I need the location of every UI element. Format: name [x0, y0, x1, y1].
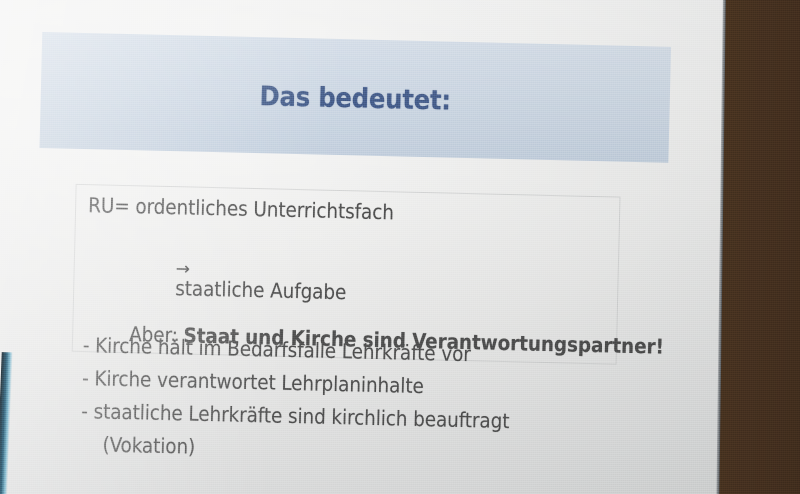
slide-canvas: Das bedeutet: RU= ordentliches Unterrich…: [0, 0, 740, 494]
page-title: Das bedeutet:: [40, 76, 670, 122]
body-line-arrow-label: staatliche Aufgabe: [175, 276, 347, 304]
dark-right-edge: [719, 0, 800, 494]
title-banner: Das bedeutet:: [40, 32, 672, 163]
body-bullet-2: - Kirche verantwortet Lehrplaninhalte: [82, 368, 424, 397]
projected-slide-photo: Das bedeutet: RU= ordentliches Unterrich…: [0, 0, 800, 494]
body-bullet-3: - staatliche Lehrkräfte sind kirchlich b…: [81, 401, 510, 432]
body-bullet-3-continuation: (Vokation): [102, 435, 195, 458]
